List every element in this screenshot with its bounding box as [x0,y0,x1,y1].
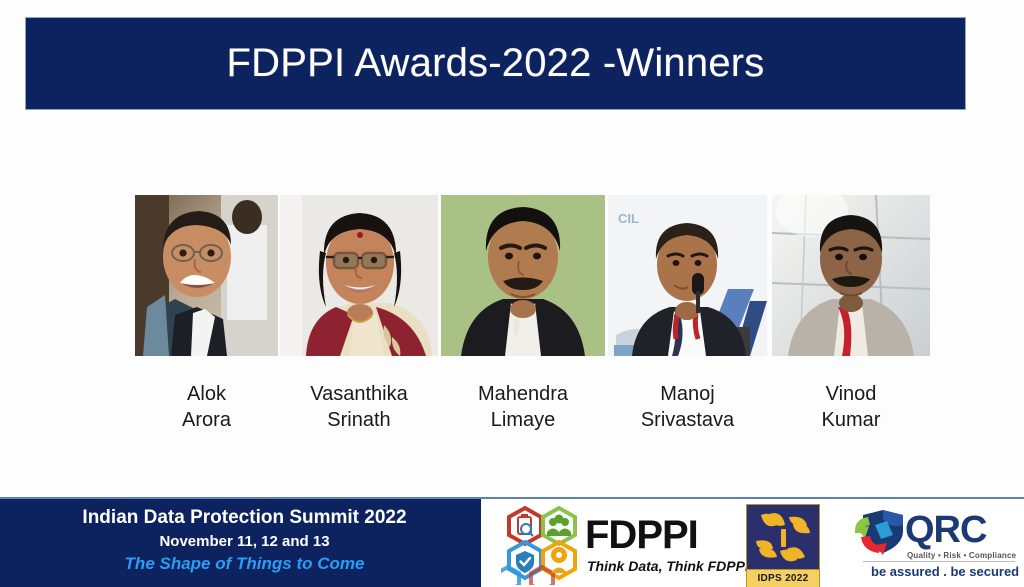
winner-first-name-2: Vasanthika [310,381,407,407]
footer-event-panel: Indian Data Protection Summit 2022 Novem… [0,499,481,587]
footer-logo-panel: FDPPI Think Data, Think FDPPI [481,499,1024,587]
winner-first-name-1: Alok [182,381,231,407]
winner-card-4: CIL [608,195,767,356]
winner-name-2: Vasanthika Srinath [310,381,407,433]
idps-logo: IDPS 2022 [746,504,828,587]
winner-first-name-3: Mahendra [478,381,568,407]
portrait-vinod-kumar-icon [772,195,930,356]
footer-event-tagline: The Shape of Things to Come [0,552,481,576]
winner-name-5: Vinod Kumar [822,381,881,433]
portrait-photo-2 [280,195,438,356]
winner-last-name-1: Arora [182,407,231,433]
winner-first-name-5: Vinod [822,381,881,407]
winner-name-4: Manoj Srivastava [641,381,734,433]
idps-pinwheel-icon [747,505,819,569]
winner-first-name-4: Manoj [641,381,734,407]
fdppi-tagline: Think Data, Think FDPPI [587,558,749,574]
qrc-tagline: be assured . be secured [871,564,1019,579]
qrc-divider [863,561,1015,562]
footer-event-name: Indian Data Protection Summit 2022 [0,505,481,531]
portrait-alok-arora-icon [135,195,278,356]
winners-row: Alok Arora [0,195,1024,445]
idps-caption: IDPS 2022 [746,570,820,587]
portrait-photo-3 [441,195,605,356]
qrc-logo: QRC Quality • Risk • Compliance be assur… [853,507,1018,585]
winner-last-name-5: Kumar [822,407,881,433]
winner-card-1: Alok Arora [135,195,278,356]
slide-canvas: FDPPI Awards-2022 -Winners [0,0,1024,587]
svg-text:CIL: CIL [618,211,639,226]
qrc-subtitle: Quality • Risk • Compliance [907,551,1016,560]
slide-footer: Indian Data Protection Summit 2022 Novem… [0,497,1024,587]
winner-last-name-2: Srinath [310,407,407,433]
slide-title-bar: FDPPI Awards-2022 -Winners [25,17,966,110]
qrc-wordmark: QRC [905,509,986,552]
fdppi-hexagon-icon [501,505,583,585]
winner-card-2: Vasanthika Srinath [280,195,438,356]
winner-name-3: Mahendra Limaye [478,381,568,433]
portrait-manoj-srivastava-icon: CIL [608,195,767,356]
portrait-mahendra-limaye-icon [441,195,605,356]
idps-emblem [746,504,820,570]
winner-name-1: Alok Arora [182,381,231,433]
qrc-shield-icon [853,507,909,559]
page-title: FDPPI Awards-2022 -Winners [227,41,765,86]
portrait-vasanthika-srinath-icon [280,195,438,356]
winner-last-name-4: Srivastava [641,407,734,433]
winner-last-name-3: Limaye [478,407,568,433]
portrait-photo-1 [135,195,278,356]
portrait-photo-4: CIL [608,195,767,356]
winner-card-5: Vinod Kumar [772,195,930,356]
winner-card-3: Mahendra Limaye [441,195,605,356]
footer-event-dates: November 11, 12 and 13 [0,531,481,552]
fdppi-logo: FDPPI Think Data, Think FDPPI [501,505,733,587]
portrait-photo-5 [772,195,930,356]
fdppi-wordmark: FDPPI [585,513,698,558]
